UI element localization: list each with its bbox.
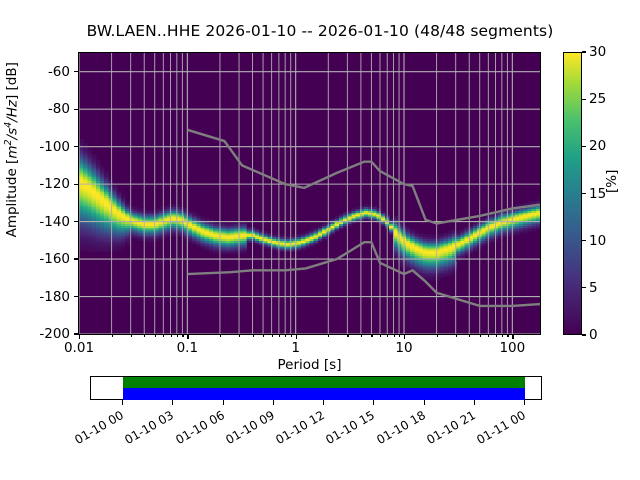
x-tick-label: 0.01 [64,340,94,356]
x-tick-mark [239,334,240,337]
x-tick-mark [187,334,188,339]
colorbar-tick-label: 20 [589,138,606,154]
y-tick-label: -200 [20,326,70,342]
ppsd-plot-canvas [79,53,540,334]
y-tick-mark [74,109,78,110]
x-tick-mark [488,334,489,337]
ppsd-axes[interactable] [78,52,541,335]
timeline-tick-mark [273,400,274,405]
x-tick-mark [171,334,172,337]
y-tick-label: -140 [20,214,70,230]
colorbar-tick-mark [582,240,586,241]
colorbar-tick-mark [582,334,586,335]
timeline-tick-mark [373,400,374,405]
timeline-axes[interactable] [90,376,542,400]
timeline-tick-mark [524,400,525,405]
colorbar-tick-label: 0 [589,327,598,343]
colorbar-tick-mark [582,287,586,288]
x-tick-label: 100 [499,340,525,356]
x-tick-mark [144,334,145,337]
timeline-psd-bar [123,388,525,400]
timeline-date-label: 01-10 18 [374,408,428,447]
timeline-date-label: 01-10 21 [424,408,478,447]
x-tick-mark [79,334,80,339]
colorbar-tick-label: 5 [589,280,598,296]
colorbar[interactable] [563,52,582,335]
x-tick-mark [112,334,113,337]
colorbar-tick-mark [582,193,586,194]
x-tick-label: 10 [395,340,412,356]
x-tick-mark [253,334,254,337]
colorbar-tick-label: 10 [589,233,606,249]
x-tick-label: 0.1 [177,340,198,356]
colorbar-tick-mark [582,51,586,52]
y-tick-label: -80 [20,101,70,117]
timeline-tick-mark [424,400,425,405]
timeline-tick-mark [172,400,173,405]
timeline-date-label: 01-10 09 [223,408,277,447]
x-tick-mark [387,334,388,337]
y-tick-mark [74,221,78,222]
y-tick-mark [74,333,78,334]
x-tick-mark [182,334,183,337]
timeline-tick-mark [122,400,123,405]
y-tick-mark [74,146,78,147]
colorbar-tick-mark [582,146,586,147]
x-tick-mark [155,334,156,337]
x-tick-mark [456,334,457,337]
timeline-date-label: 01-10 12 [273,408,327,447]
x-tick-mark [177,334,178,337]
y-tick-label: -120 [20,176,70,192]
y-tick-mark [74,296,78,297]
x-tick-mark [163,334,164,337]
x-tick-mark [480,334,481,337]
x-tick-mark [502,334,503,337]
x-tick-mark [131,334,132,337]
x-tick-mark [394,334,395,337]
x-tick-mark [496,334,497,337]
y-tick-label: -100 [20,139,70,155]
x-tick-mark [296,334,297,339]
x-axis-label: Period [s] [78,357,541,373]
colorbar-tick-label: 25 [589,91,606,107]
timeline-tick-mark [474,400,475,405]
timeline-tick-mark [323,400,324,405]
x-tick-mark [507,334,508,337]
x-tick-mark [272,334,273,337]
y-tick-mark [74,258,78,259]
x-tick-mark [512,334,513,339]
x-tick-mark [285,334,286,337]
y-axis-label: Amplitude [m2/s4/Hz] [dB] [2,30,20,270]
x-tick-mark [404,334,405,339]
y-tick-label: -60 [20,64,70,80]
timeline-date-label: 01-10 00 [72,408,126,447]
x-tick-mark [279,334,280,337]
x-tick-mark [263,334,264,337]
gridlines [79,53,540,334]
x-tick-mark [399,334,400,337]
y-tick-label: -180 [20,289,70,305]
timeline-tick-mark [223,400,224,405]
timeline-date-label: 01-10 06 [173,408,227,447]
x-tick-mark [347,334,348,337]
colorbar-tick-mark [582,99,586,100]
y-tick-label: -160 [20,251,70,267]
colorbar-tick-label: 30 [589,44,606,60]
x-tick-mark [361,334,362,337]
x-tick-mark [469,334,470,337]
y-tick-mark [74,184,78,185]
timeline-data-bar [123,377,525,388]
x-tick-mark [291,334,292,337]
page-title: BW.LAEN..HHE 2026-01-10 -- 2026-01-10 (4… [0,22,640,40]
colorbar-label: [%] [604,170,620,193]
x-tick-mark [437,334,438,337]
x-tick-mark [371,334,372,337]
timeline-date-label: 01-10 03 [123,408,177,447]
timeline-date-label: 01-10 15 [324,408,378,447]
timeline-date-label: 01-11 00 [474,408,528,447]
x-tick-mark [220,334,221,337]
y-tick-mark [74,71,78,72]
x-tick-label: 1 [291,340,300,356]
x-tick-mark [328,334,329,337]
x-tick-mark [380,334,381,337]
